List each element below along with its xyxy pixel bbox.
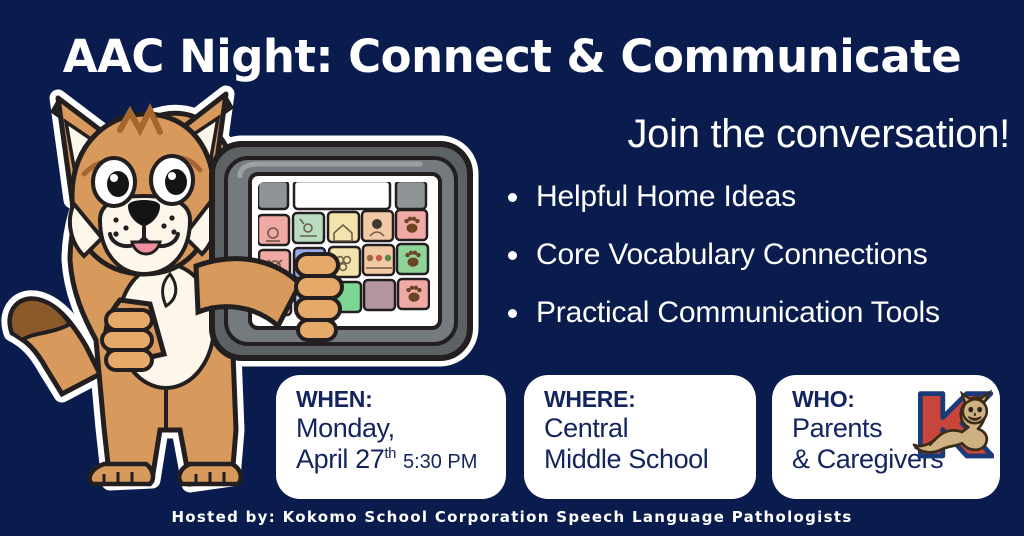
date-ordinal-suffix: th: [384, 446, 396, 462]
flyer-canvas: AAC Night: Connect & Communicate: [0, 0, 1024, 536]
card-value-venue-line2: Middle School: [544, 444, 740, 475]
list-item: Practical Communication Tools: [500, 296, 1020, 330]
card-value-venue-line1: Central: [544, 413, 740, 444]
card-label-where: WHERE:: [544, 387, 740, 412]
page-title: AAC Night: Connect & Communicate: [0, 30, 1024, 83]
event-time: 5:30 PM: [403, 451, 477, 473]
info-card-who: WHO: Parents & Caregivers: [772, 375, 1000, 499]
info-card-where: WHERE: Central Middle School: [524, 375, 756, 499]
info-card-when: WHEN: Monday, April 27th5:30 PM: [276, 375, 506, 499]
list-item: Helpful Home Ideas: [500, 180, 1020, 214]
subheading: Join the conversation!: [470, 112, 1010, 157]
date-text: April 27: [296, 444, 384, 474]
list-item-label: Helpful Home Ideas: [536, 180, 796, 213]
bullet-dot-icon: [508, 193, 517, 202]
footer-credit: Hosted by: Kokomo School Corporation Spe…: [0, 508, 1024, 526]
aac-speech-tablet: [212, 144, 470, 358]
list-item-label: Practical Communication Tools: [536, 296, 940, 329]
list-item: Core Vocabulary Connections: [500, 238, 1020, 272]
bullet-dot-icon: [508, 309, 517, 318]
kokomo-wildcat-k-logo: [906, 385, 994, 463]
benefits-list: Helpful Home Ideas Core Vocabulary Conne…: [500, 180, 1020, 354]
card-value-day: Monday,: [296, 413, 490, 444]
card-label-when: WHEN:: [296, 387, 490, 412]
bullet-dot-icon: [508, 251, 517, 260]
list-item-label: Core Vocabulary Connections: [536, 238, 928, 271]
card-value-date: April 27th5:30 PM: [296, 444, 490, 475]
